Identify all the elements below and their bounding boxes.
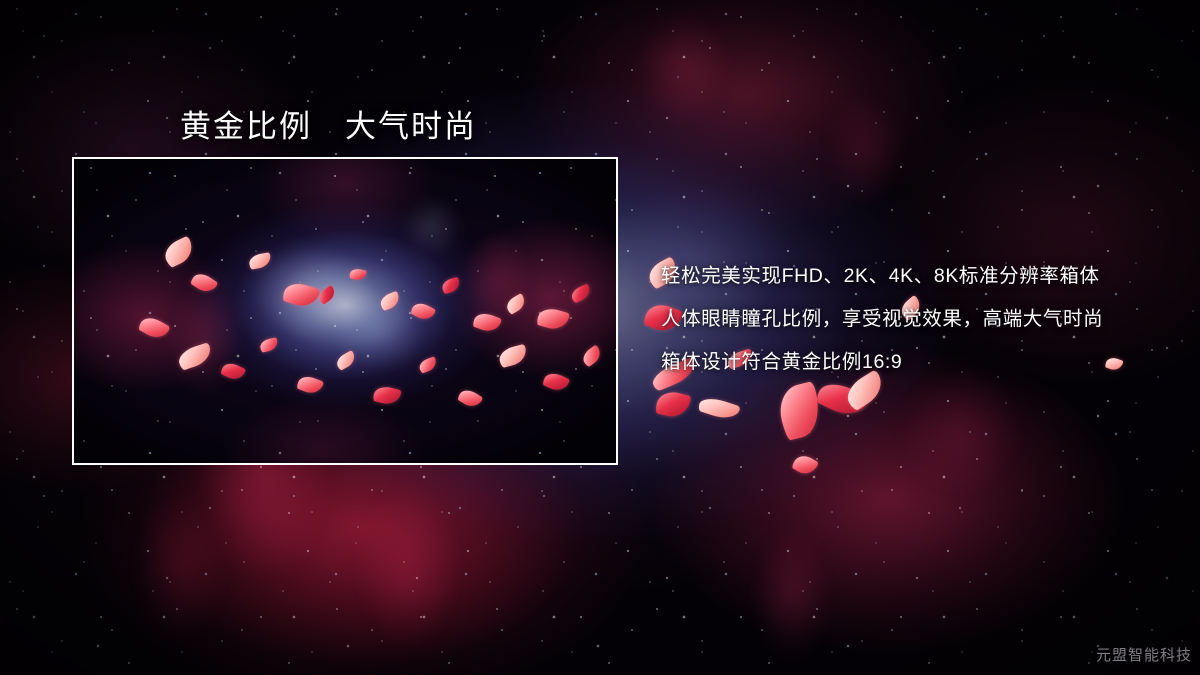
petal-outer-6 [774, 381, 825, 441]
page-title: 黄金比例 大气时尚 [180, 101, 477, 146]
petal-outer-5 [697, 394, 740, 423]
body-line-3: 箱体设计符合黄金比例16:9 [661, 341, 1161, 384]
body-line-1: 轻松完美实现FHD、2K、4K、8K标准分辨率箱体 [661, 255, 1161, 298]
petal-outer-3 [654, 389, 691, 421]
slide-canvas: 黄金比例 大气时尚 轻松完美实现FHD、2K、4K、8K标准分辨率箱体 人体眼睛… [0, 0, 1200, 675]
body-copy-block: 轻松完美实现FHD、2K、4K、8K标准分辨率箱体 人体眼睛瞳孔比例，享受视觉效… [661, 255, 1161, 384]
petal-outer-9 [791, 452, 819, 479]
photo-nebula-wisps [74, 159, 616, 463]
photo-panel[interactable] [72, 157, 618, 465]
body-line-2: 人体眼睛瞳孔比例，享受视觉效果，高端大气时尚 [661, 298, 1161, 341]
watermark-label: 元盟智能科技 [1096, 644, 1192, 665]
